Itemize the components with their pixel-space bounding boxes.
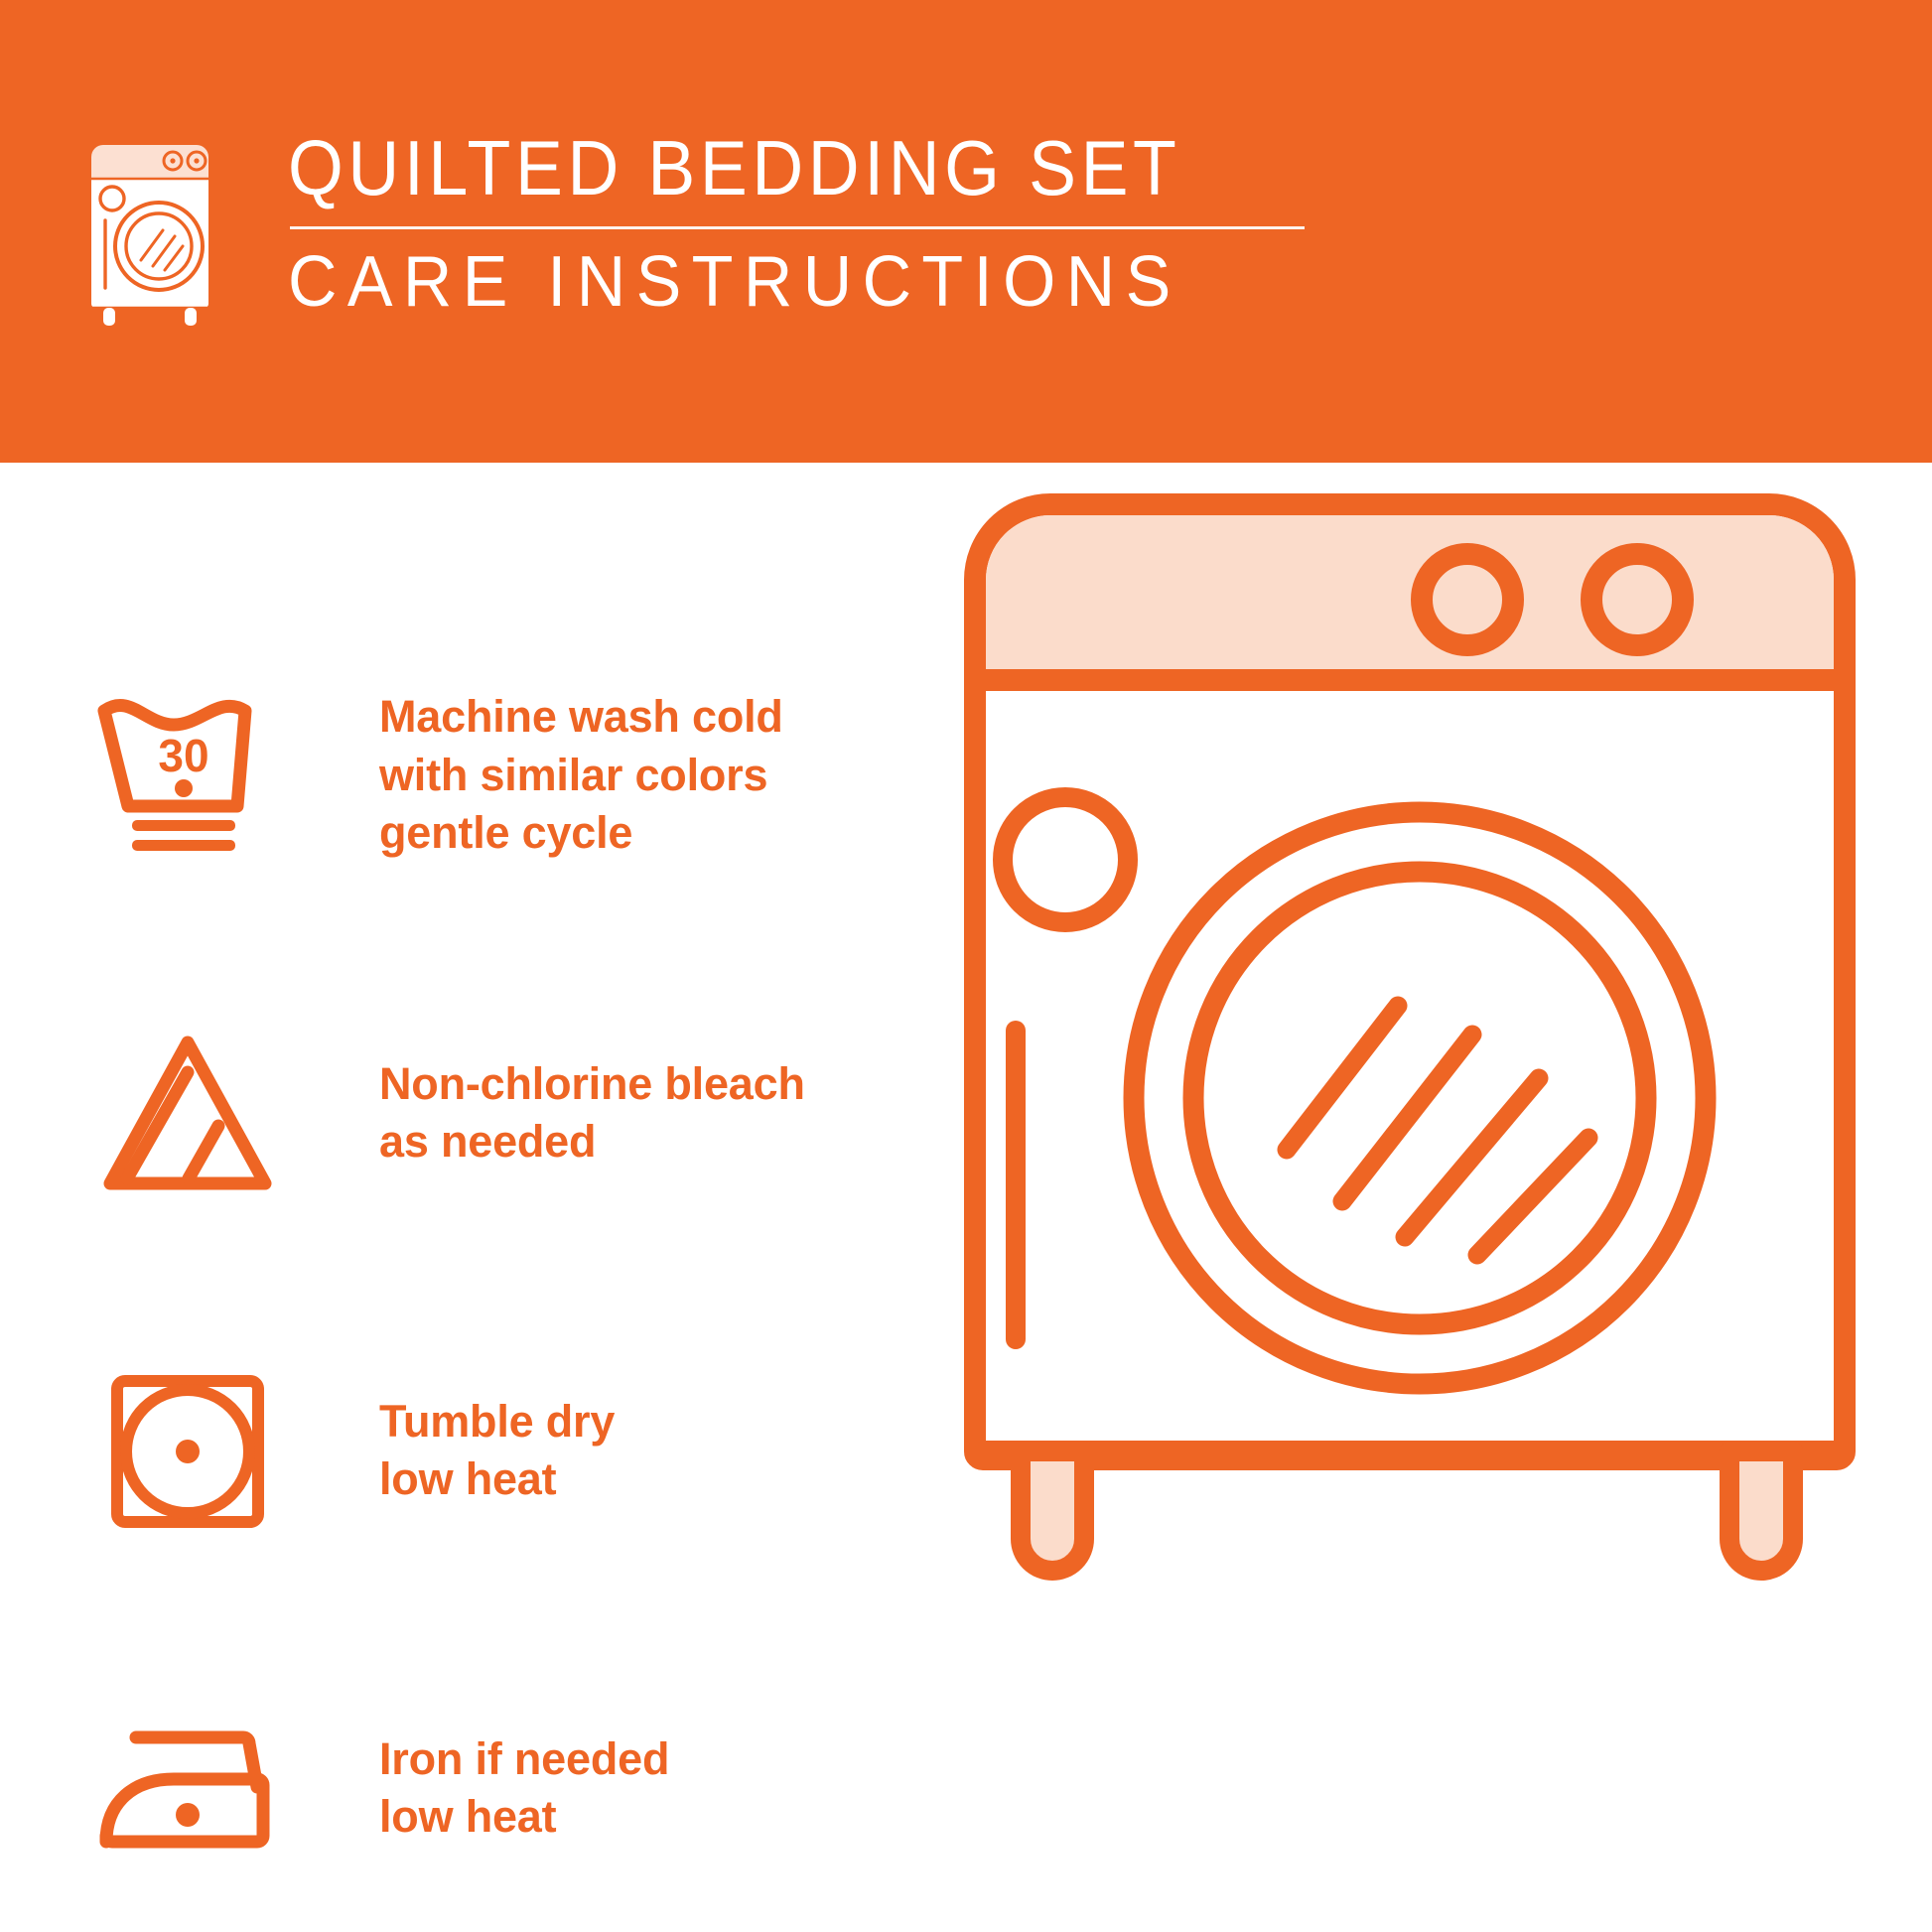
header-content: QUILTED BEDDING SET CARE INSTRUCTIONS bbox=[77, 129, 1305, 329]
tumble-dry-low-heat-icon bbox=[83, 1356, 292, 1545]
bleach-triangle-non-chlorine-icon bbox=[83, 1019, 292, 1207]
care-label-iron: Iron if needed low heat bbox=[379, 1730, 669, 1847]
wash-temperature-value: 30 bbox=[158, 730, 208, 781]
body-area: 30 Machine wash cold with similar colors… bbox=[0, 463, 1932, 1932]
care-label-tumble-dry: Tumble dry low heat bbox=[379, 1393, 615, 1509]
page-title: QUILTED BEDDING SET bbox=[288, 129, 1223, 208]
care-instruction-list: 30 Machine wash cold with similar colors… bbox=[83, 661, 897, 1902]
care-label-line: low heat bbox=[379, 1450, 615, 1509]
care-label-line: Tumble dry bbox=[379, 1393, 615, 1451]
care-label-line: Non-chlorine bleach bbox=[379, 1055, 805, 1114]
iron-low-heat-icon bbox=[83, 1694, 292, 1882]
care-label-line: gentle cycle bbox=[379, 804, 783, 863]
care-label-bleach: Non-chlorine bleach as needed bbox=[379, 1055, 805, 1172]
care-label-line: with similar colors bbox=[379, 747, 783, 805]
care-instructions-page: QUILTED BEDDING SET CARE INSTRUCTIONS 30 bbox=[0, 0, 1932, 1932]
header-titles: QUILTED BEDDING SET CARE INSTRUCTIONS bbox=[288, 129, 1305, 320]
care-row-iron: Iron if needed low heat bbox=[83, 1674, 897, 1902]
care-label-line: low heat bbox=[379, 1788, 669, 1847]
header-banner: QUILTED BEDDING SET CARE INSTRUCTIONS bbox=[0, 0, 1932, 463]
care-label-wash: Machine wash cold with similar colors ge… bbox=[379, 688, 783, 863]
care-row-wash: 30 Machine wash cold with similar colors… bbox=[83, 661, 897, 890]
washing-machine-icon bbox=[77, 135, 236, 329]
page-subtitle: CARE INSTRUCTIONS bbox=[288, 245, 1254, 321]
wash-tub-30-gentle-icon: 30 bbox=[83, 681, 292, 870]
care-label-line: Machine wash cold bbox=[379, 688, 783, 747]
care-row-tumble-dry: Tumble dry low heat bbox=[83, 1336, 897, 1565]
care-row-bleach: Non-chlorine bleach as needed bbox=[83, 999, 897, 1227]
care-label-line: as needed bbox=[379, 1113, 805, 1172]
care-label-line: Iron if needed bbox=[379, 1730, 669, 1789]
title-divider bbox=[290, 226, 1305, 229]
large-washing-machine-illustration bbox=[953, 483, 1866, 1604]
